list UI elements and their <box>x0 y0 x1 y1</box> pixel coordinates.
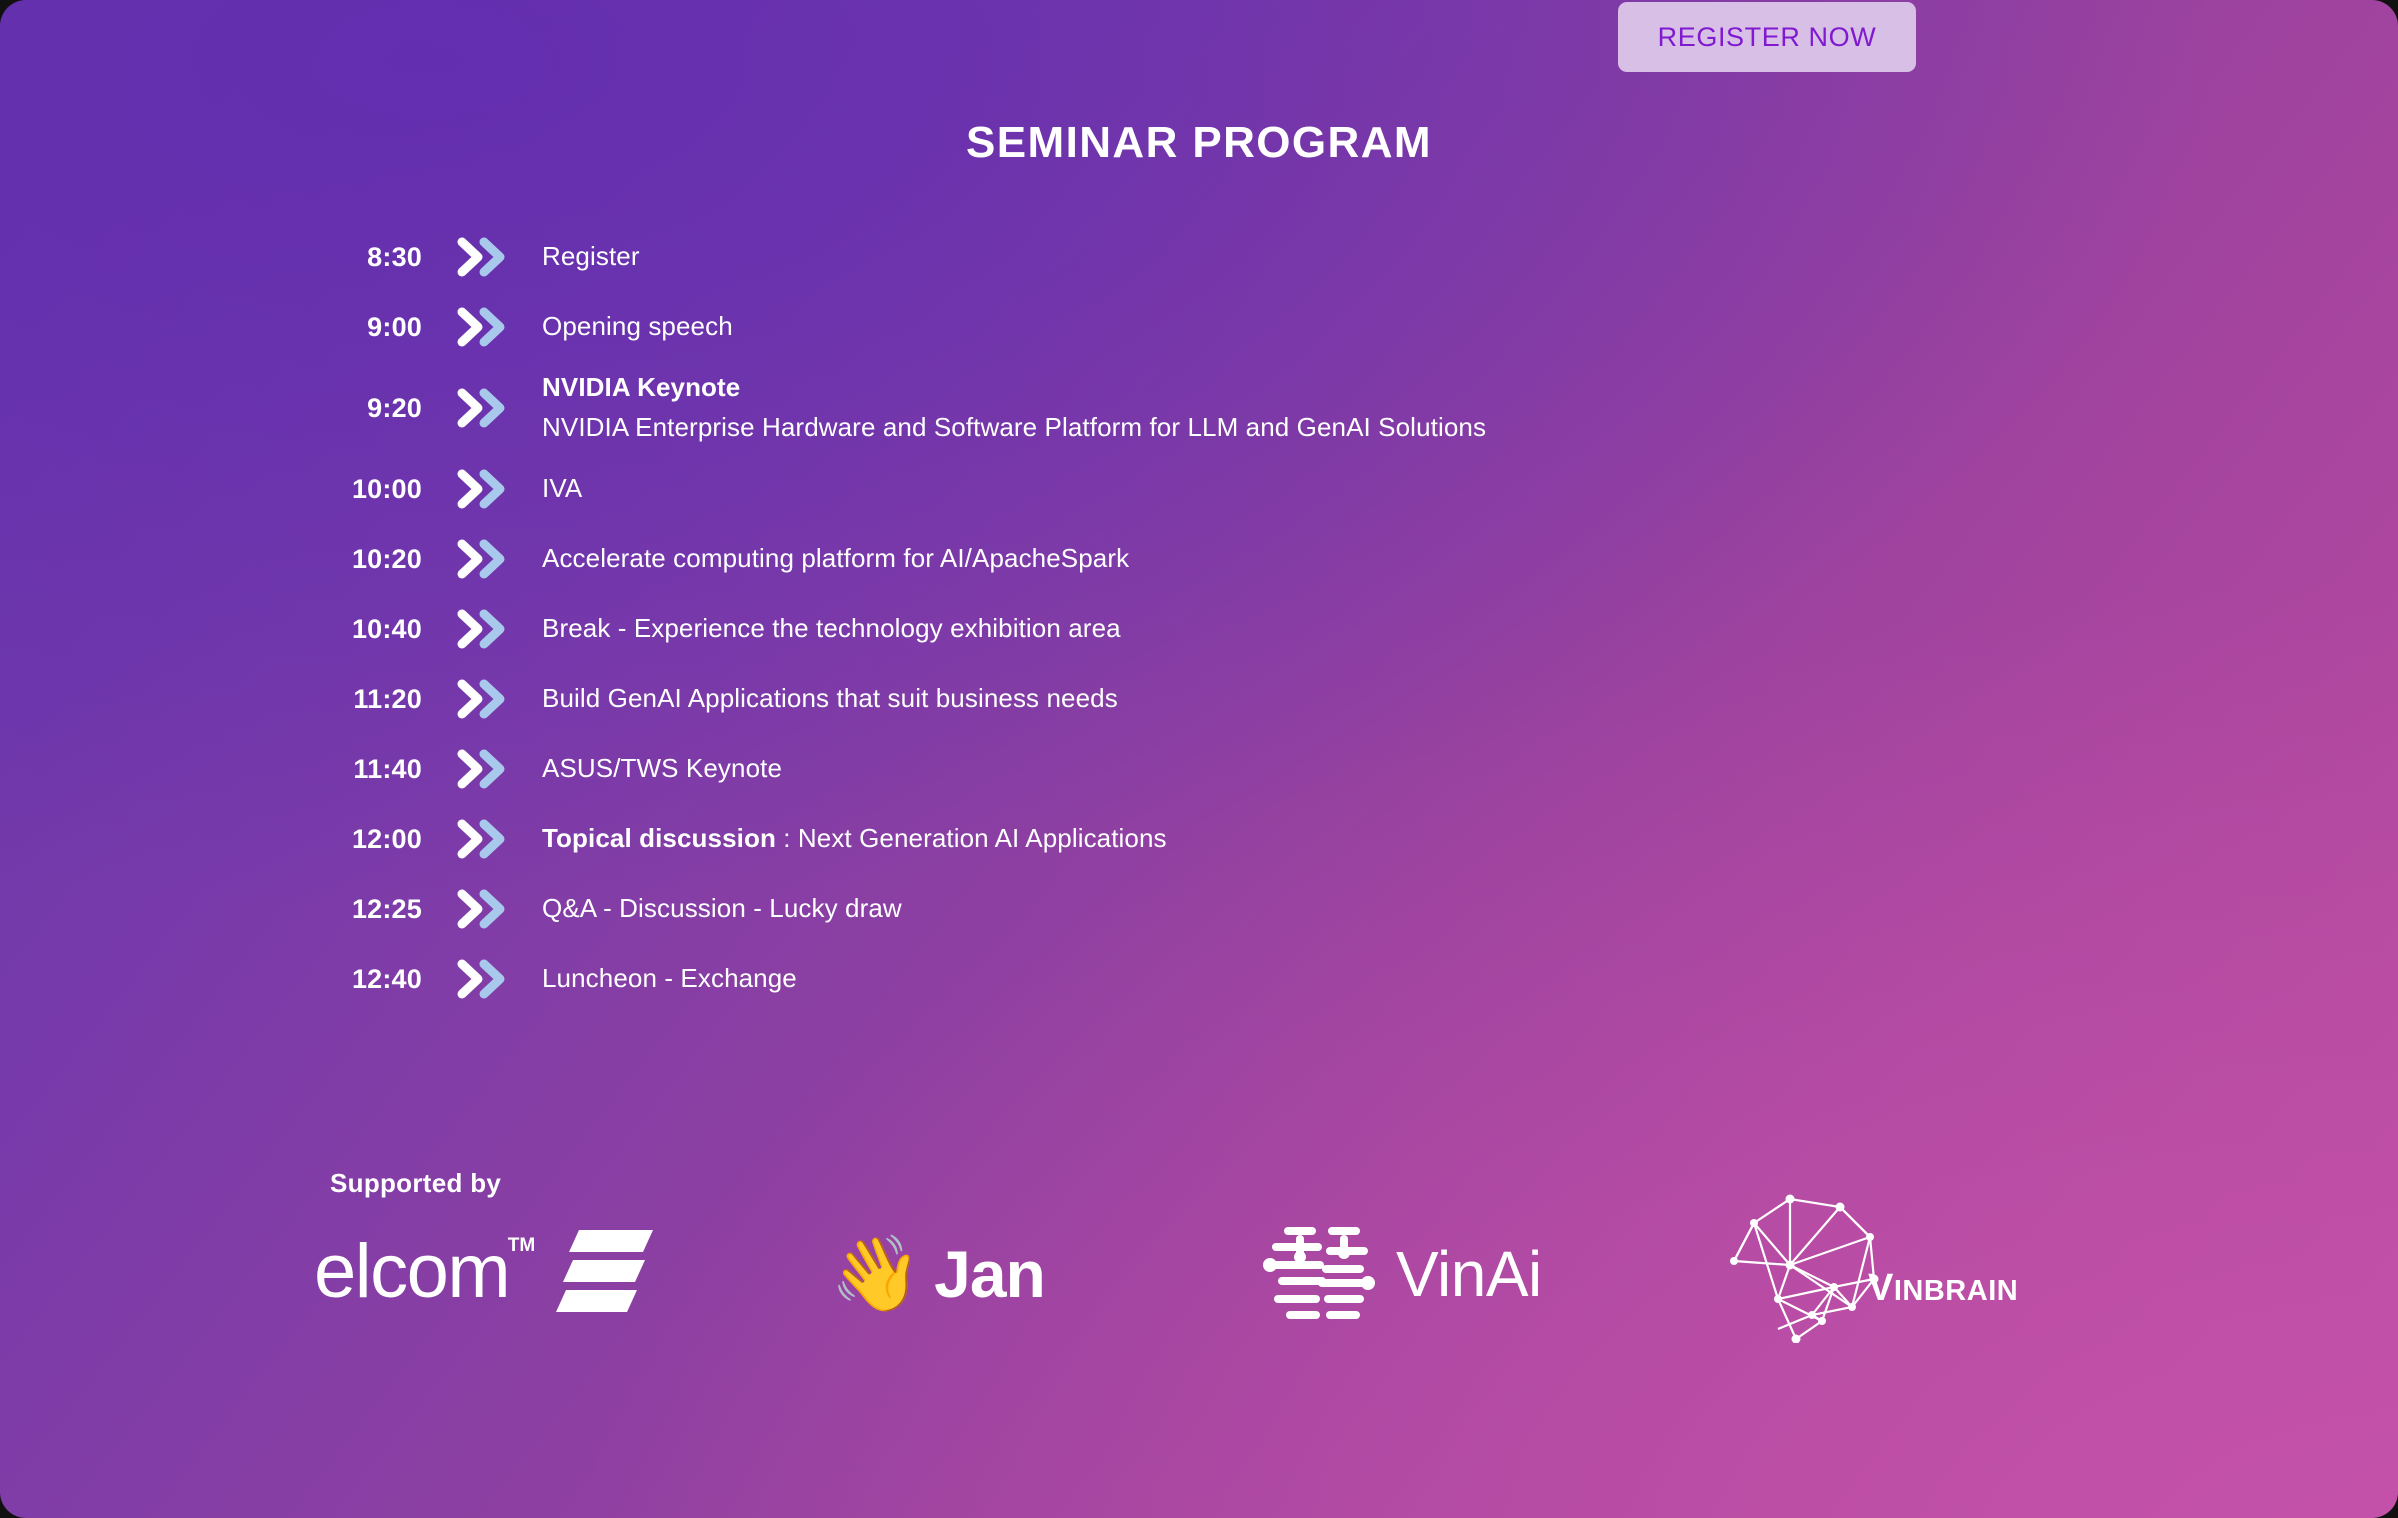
schedule-row: 10:00 IVA <box>330 454 2030 524</box>
jan-wordmark: Jan <box>934 1241 1045 1307</box>
vinbrain-wordmark: VINBRAIN <box>1868 1269 2018 1307</box>
sponsor-logos: elcom TM 👋 Jan <box>300 1205 2200 1355</box>
schedule-description: IVA <box>542 469 582 509</box>
schedule-time: 8:30 <box>330 242 422 273</box>
schedule-list: 8:30 Register 9:00 Opening speech 9: <box>330 222 2030 1014</box>
vinbrain-word-rest: INBRAIN <box>1894 1275 2018 1307</box>
double-chevron-right-icon <box>444 889 524 929</box>
schedule-description: Break - Experience the technology exhibi… <box>542 609 1121 649</box>
schedule-row: 9:00 Opening speech <box>330 292 2030 362</box>
schedule-time: 10:40 <box>330 614 422 645</box>
waving-hand-icon: 👋 <box>830 1237 922 1311</box>
schedule-description: Topical discussion : Next Generation AI … <box>542 819 1167 859</box>
page-title: SEMINAR PROGRAM <box>0 118 2398 168</box>
schedule-row: 10:20 Accelerate computing platform for … <box>330 524 2030 594</box>
schedule-row: 9:20 NVIDIA Keynote NVIDIA Enterprise Ha… <box>330 362 2030 454</box>
double-chevron-right-icon <box>444 539 524 579</box>
vinai-network-mark-icon <box>1260 1217 1380 1332</box>
schedule-time: 11:20 <box>330 684 422 715</box>
schedule-time: 12:25 <box>330 894 422 925</box>
double-chevron-right-icon <box>444 679 524 719</box>
schedule-time: 9:00 <box>330 312 422 343</box>
schedule-time: 12:40 <box>330 964 422 995</box>
double-chevron-right-icon <box>444 609 524 649</box>
schedule-description-rest: : Next Generation AI Applications <box>776 823 1167 853</box>
schedule-time: 10:00 <box>330 474 422 505</box>
schedule-description: Accelerate computing platform for AI/Apa… <box>542 539 1129 579</box>
schedule-time: 11:40 <box>330 754 422 785</box>
vinai-wordmark: VinAi <box>1396 1242 1542 1306</box>
schedule-row: 12:25 Q&A - Discussion - Lucky draw <box>330 874 2030 944</box>
seminar-program-slide: REGISTER NOW SEMINAR PROGRAM 8:30 Regist… <box>0 0 2398 1518</box>
schedule-row: 12:00 Topical discussion : Next Generati… <box>330 804 2030 874</box>
double-chevron-right-icon <box>444 749 524 789</box>
schedule-time: 10:20 <box>330 544 422 575</box>
double-chevron-right-icon <box>444 819 524 859</box>
schedule-description: NVIDIA Keynote NVIDIA Enterprise Hardwar… <box>542 368 1486 447</box>
logo-jan: 👋 Jan <box>830 1209 1045 1339</box>
schedule-time: 9:20 <box>330 393 422 424</box>
schedule-row: 11:20 Build GenAI Applications that suit… <box>330 664 2030 734</box>
logo-elcom: elcom TM <box>314 1207 657 1337</box>
schedule-time: 12:00 <box>330 824 422 855</box>
schedule-row: 10:40 Break - Experience the technology … <box>330 594 2030 664</box>
elcom-wordmark: elcom TM <box>314 1234 509 1310</box>
double-chevron-right-icon <box>444 469 524 509</box>
trademark-icon: TM <box>508 1236 535 1255</box>
elcom-e-mark-icon <box>553 1226 657 1319</box>
schedule-row: 8:30 Register <box>330 222 2030 292</box>
vinbrain-word-cap: V <box>1868 1267 1894 1309</box>
schedule-description: ASUS/TWS Keynote <box>542 749 782 789</box>
schedule-description: Opening speech <box>542 307 733 347</box>
double-chevron-right-icon <box>444 959 524 999</box>
schedule-description: Q&A - Discussion - Lucky draw <box>542 889 902 929</box>
elcom-word-text: elcom <box>314 1229 509 1314</box>
logo-vinbrain: VINBRAIN <box>1712 1193 2052 1323</box>
supported-by-label: Supported by <box>330 1168 501 1199</box>
schedule-session-title: NVIDIA Keynote <box>542 368 1486 408</box>
logo-vinai: VinAi <box>1260 1209 1542 1339</box>
double-chevron-right-icon <box>444 307 524 347</box>
schedule-description: Luncheon - Exchange <box>542 959 797 999</box>
schedule-description: Build GenAI Applications that suit busin… <box>542 679 1118 719</box>
schedule-description: Register <box>542 237 640 277</box>
schedule-row: 11:40 ASUS/TWS Keynote <box>330 734 2030 804</box>
schedule-row: 12:40 Luncheon - Exchange <box>330 944 2030 1014</box>
double-chevron-right-icon <box>444 237 524 277</box>
double-chevron-right-icon <box>444 388 524 428</box>
schedule-bold-prefix: Topical discussion <box>542 823 776 853</box>
register-now-button[interactable]: REGISTER NOW <box>1618 2 1916 72</box>
schedule-session-subtitle: NVIDIA Enterprise Hardware and Software … <box>542 408 1486 448</box>
